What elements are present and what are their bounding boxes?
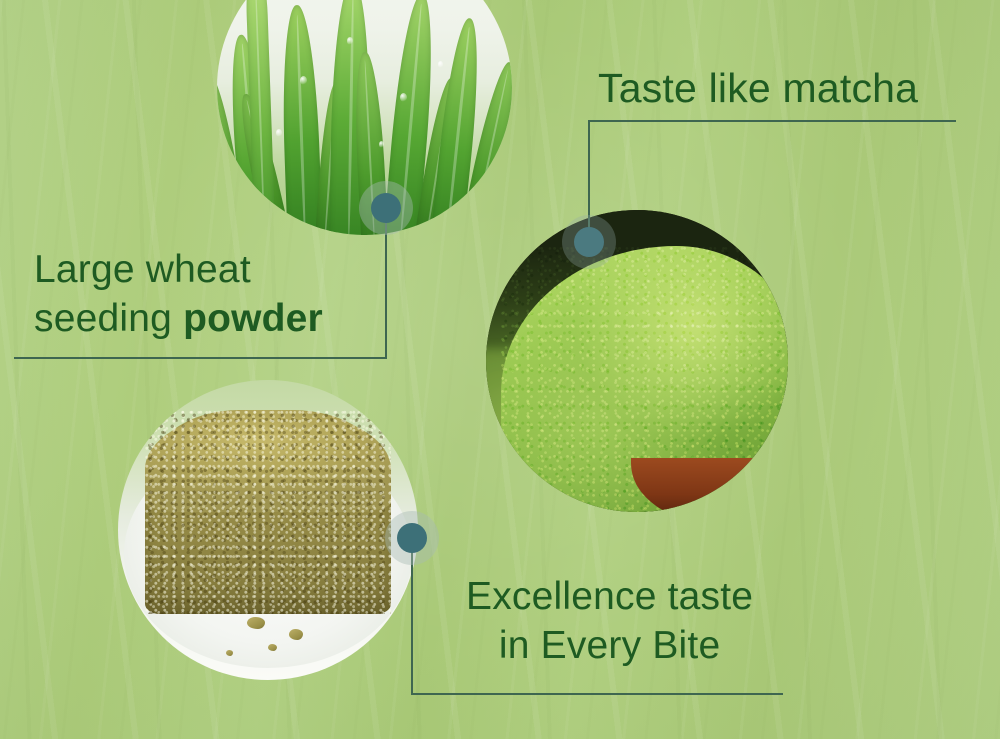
hotspot-marker-cake[interactable] bbox=[385, 511, 439, 565]
callout-line-1: Large wheat bbox=[34, 245, 323, 294]
cake-crumb bbox=[247, 617, 265, 629]
matcha-powder-photo bbox=[486, 210, 788, 512]
callout-taste-like-matcha: Taste like matcha bbox=[598, 63, 918, 115]
dew-drop bbox=[300, 76, 307, 85]
callout-line-2: seeding powder bbox=[34, 294, 323, 343]
dew-drop bbox=[276, 129, 282, 137]
connector-line-wheat-horizontal bbox=[14, 357, 387, 359]
cake-crumb bbox=[268, 644, 277, 651]
matcha-bowl-rim bbox=[631, 458, 788, 512]
hotspot-marker-matcha[interactable] bbox=[562, 215, 616, 269]
hotspot-dot-icon bbox=[397, 523, 427, 553]
callout-line-1: Excellence taste bbox=[466, 572, 753, 621]
cake-crumb bbox=[226, 650, 233, 656]
callout-line-2: in Every Bite bbox=[466, 621, 753, 670]
callout-large-wheat-seeding-powder: Large wheat seeding powder bbox=[34, 245, 323, 343]
callout-excellence-taste-in-every-bite: Excellence taste in Every Bite bbox=[466, 572, 753, 670]
callout-line-2-emphasis: powder bbox=[183, 297, 323, 340]
dew-drop bbox=[379, 141, 384, 148]
infographic-canvas: Taste like matcha Large wheat seeding po… bbox=[0, 0, 1000, 739]
connector-line-matcha-horizontal bbox=[588, 120, 956, 122]
callout-line-1: Taste like matcha bbox=[598, 63, 918, 115]
hotspot-dot-icon bbox=[574, 227, 604, 257]
seeding-cake-photo bbox=[118, 380, 418, 680]
callout-line-2-text: seeding bbox=[34, 297, 183, 340]
cake-grain-texture bbox=[145, 410, 391, 614]
cake-crumb bbox=[289, 629, 303, 640]
connector-line-bite-horizontal bbox=[411, 693, 783, 695]
cake-block bbox=[145, 410, 391, 614]
hotspot-marker-wheatgrass[interactable] bbox=[359, 181, 413, 235]
hotspot-dot-icon bbox=[371, 193, 401, 223]
